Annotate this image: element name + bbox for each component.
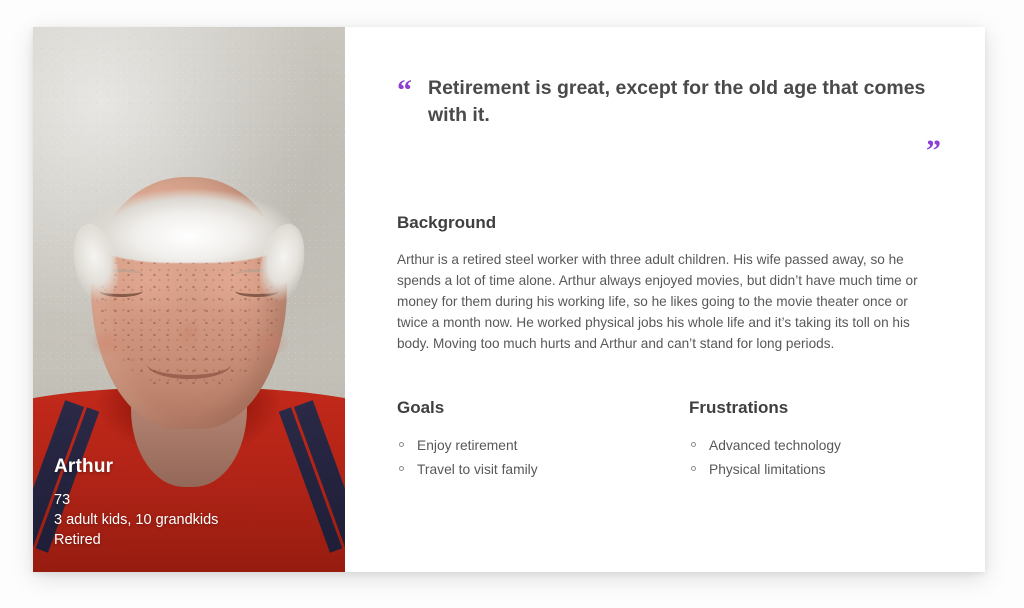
persona-identity-overlay: Arthur 73 3 adult kids, 10 grandkids Ret… bbox=[54, 456, 331, 550]
persona-quote-text: Retirement is great, except for the old … bbox=[428, 75, 928, 129]
persona-card-stage: Arthur 73 3 adult kids, 10 grandkids Ret… bbox=[0, 0, 1024, 608]
quote-close-icon: ” bbox=[397, 137, 941, 164]
bullet-circle-icon bbox=[399, 442, 404, 447]
persona-quote-block: “ Retirement is great, except for the ol… bbox=[397, 75, 941, 171]
list-item-label: Advanced technology bbox=[709, 438, 841, 453]
background-section-title: Background bbox=[397, 213, 941, 233]
persona-name: Arthur bbox=[54, 456, 331, 478]
goals-section: Goals Enjoy retirement Travel to visit f… bbox=[397, 398, 689, 482]
list-item-label: Physical limitations bbox=[709, 462, 826, 477]
persona-meta: 73 3 adult kids, 10 grandkids Retired bbox=[54, 490, 331, 550]
persona-family: 3 adult kids, 10 grandkids bbox=[54, 510, 331, 530]
bullet-circle-icon bbox=[399, 466, 404, 471]
persona-content-panel: “ Retirement is great, except for the ol… bbox=[345, 27, 985, 572]
list-item: Advanced technology bbox=[689, 434, 841, 457]
list-item-label: Travel to visit family bbox=[417, 462, 538, 477]
frustrations-section: Frustrations Advanced technology Physica… bbox=[689, 398, 841, 482]
quote-row: “ Retirement is great, except for the ol… bbox=[397, 75, 941, 129]
goals-list: Enjoy retirement Travel to visit family bbox=[397, 434, 689, 481]
bullet-circle-icon bbox=[691, 442, 696, 447]
quote-open-icon: “ bbox=[397, 77, 412, 104]
persona-occupation: Retired bbox=[54, 530, 331, 550]
goals-frustrations-row: Goals Enjoy retirement Travel to visit f… bbox=[397, 398, 941, 482]
frustrations-section-title: Frustrations bbox=[689, 398, 841, 418]
background-section-text: Arthur is a retired steel worker with th… bbox=[397, 249, 941, 354]
goals-section-title: Goals bbox=[397, 398, 689, 418]
persona-photo-panel: Arthur 73 3 adult kids, 10 grandkids Ret… bbox=[33, 27, 345, 572]
list-item-label: Enjoy retirement bbox=[417, 438, 517, 453]
list-item: Enjoy retirement bbox=[397, 434, 689, 457]
frustrations-list: Advanced technology Physical limitations bbox=[689, 434, 841, 481]
list-item: Travel to visit family bbox=[397, 458, 689, 481]
persona-age: 73 bbox=[54, 490, 331, 510]
list-item: Physical limitations bbox=[689, 458, 841, 481]
bullet-circle-icon bbox=[691, 466, 696, 471]
persona-card: Arthur 73 3 adult kids, 10 grandkids Ret… bbox=[33, 27, 985, 572]
